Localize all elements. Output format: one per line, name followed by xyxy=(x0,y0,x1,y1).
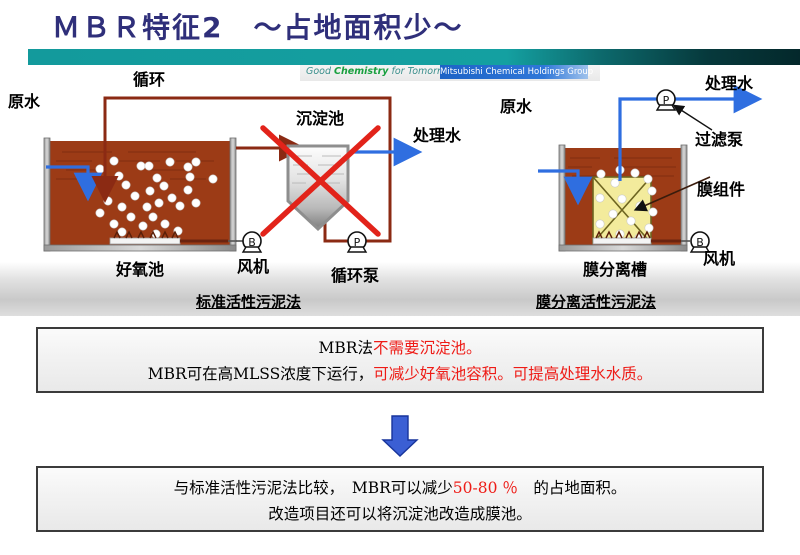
settling-tank-label: 沉淀池 xyxy=(296,105,344,129)
down-arrow-icon xyxy=(380,414,420,458)
statement-1-line-1: MBR法不需要沉淀池。 xyxy=(38,336,762,358)
left-raw-water-label: 原水 xyxy=(8,88,40,112)
statement-1-line-2-black: MBR可在高MLSS浓度下运行， xyxy=(148,365,374,383)
statement-1-line-1-red: 不需要沉淀池。 xyxy=(373,339,482,357)
right-blower-label: 风机 xyxy=(703,245,735,269)
aeration-tank-label: 好氧池 xyxy=(116,256,164,280)
aeration-tank-group xyxy=(44,138,236,251)
filtration-pump-symbol: P xyxy=(657,90,675,110)
statement-1-line-1-black: MBR法 xyxy=(319,339,373,357)
left-treated-water-label: 处理水 xyxy=(413,122,461,146)
slide-root: ＭＢＲ特征2 ～占地面积少～ Good Chemistry for Tomorr… xyxy=(0,0,800,555)
page-title: ＭＢＲ特征2 ～占地面积少～ xyxy=(52,6,463,46)
right-raw-water-label: 原水 xyxy=(500,93,532,117)
band-left-gap xyxy=(0,49,28,65)
right-treated-water-label: 处理水 xyxy=(705,70,753,94)
membrane-tank-group xyxy=(559,145,690,251)
statement-2-line-1-black-b: 的占地面积。 xyxy=(518,479,627,497)
statement-box-1: MBR法不需要沉淀池。 MBR可在高MLSS浓度下运行，可减少好氧池容积。可提高… xyxy=(36,327,764,393)
statement-2-line-1-red: 50-80 ％ xyxy=(453,479,518,497)
membrane-module-label: 膜组件 xyxy=(697,176,745,200)
statement-2-line-1: 与标准活性污泥法比较， MBR可以减少50-80 ％ 的占地面积。 xyxy=(38,476,762,498)
blower-symbol-left: B xyxy=(236,232,261,252)
circulation-pump-symbol: P xyxy=(348,232,366,252)
statement-1-line-2-red: 可减少好氧池容积。可提高处理水水质。 xyxy=(373,365,652,383)
circulation-label: 循环 xyxy=(133,66,165,90)
left-diagram-caption: 标准活性污泥法 xyxy=(196,291,301,312)
circulation-pump-label: 循环泵 xyxy=(331,262,379,286)
statement-box-2: 与标准活性污泥法比较， MBR可以减少50-80 ％ 的占地面积。 改造项目还可… xyxy=(36,466,764,532)
filtration-pump-label: 过滤泵 xyxy=(695,126,743,150)
membrane-tank-label: 膜分离槽 xyxy=(583,256,647,280)
statement-2-line-1-black-a: 与标准活性污泥法比较， MBR可以减少 xyxy=(174,479,453,497)
left-blower-label: 风机 xyxy=(237,253,269,277)
corporate-band xyxy=(28,49,800,65)
statement-1-line-2: MBR可在高MLSS浓度下运行，可减少好氧池容积。可提高处理水水质。 xyxy=(38,362,762,384)
right-diagram-caption: 膜分离活性污泥法 xyxy=(536,291,656,312)
statement-2-line-2: 改造项目还可以将沉淀池改造成膜池。 xyxy=(38,502,762,524)
